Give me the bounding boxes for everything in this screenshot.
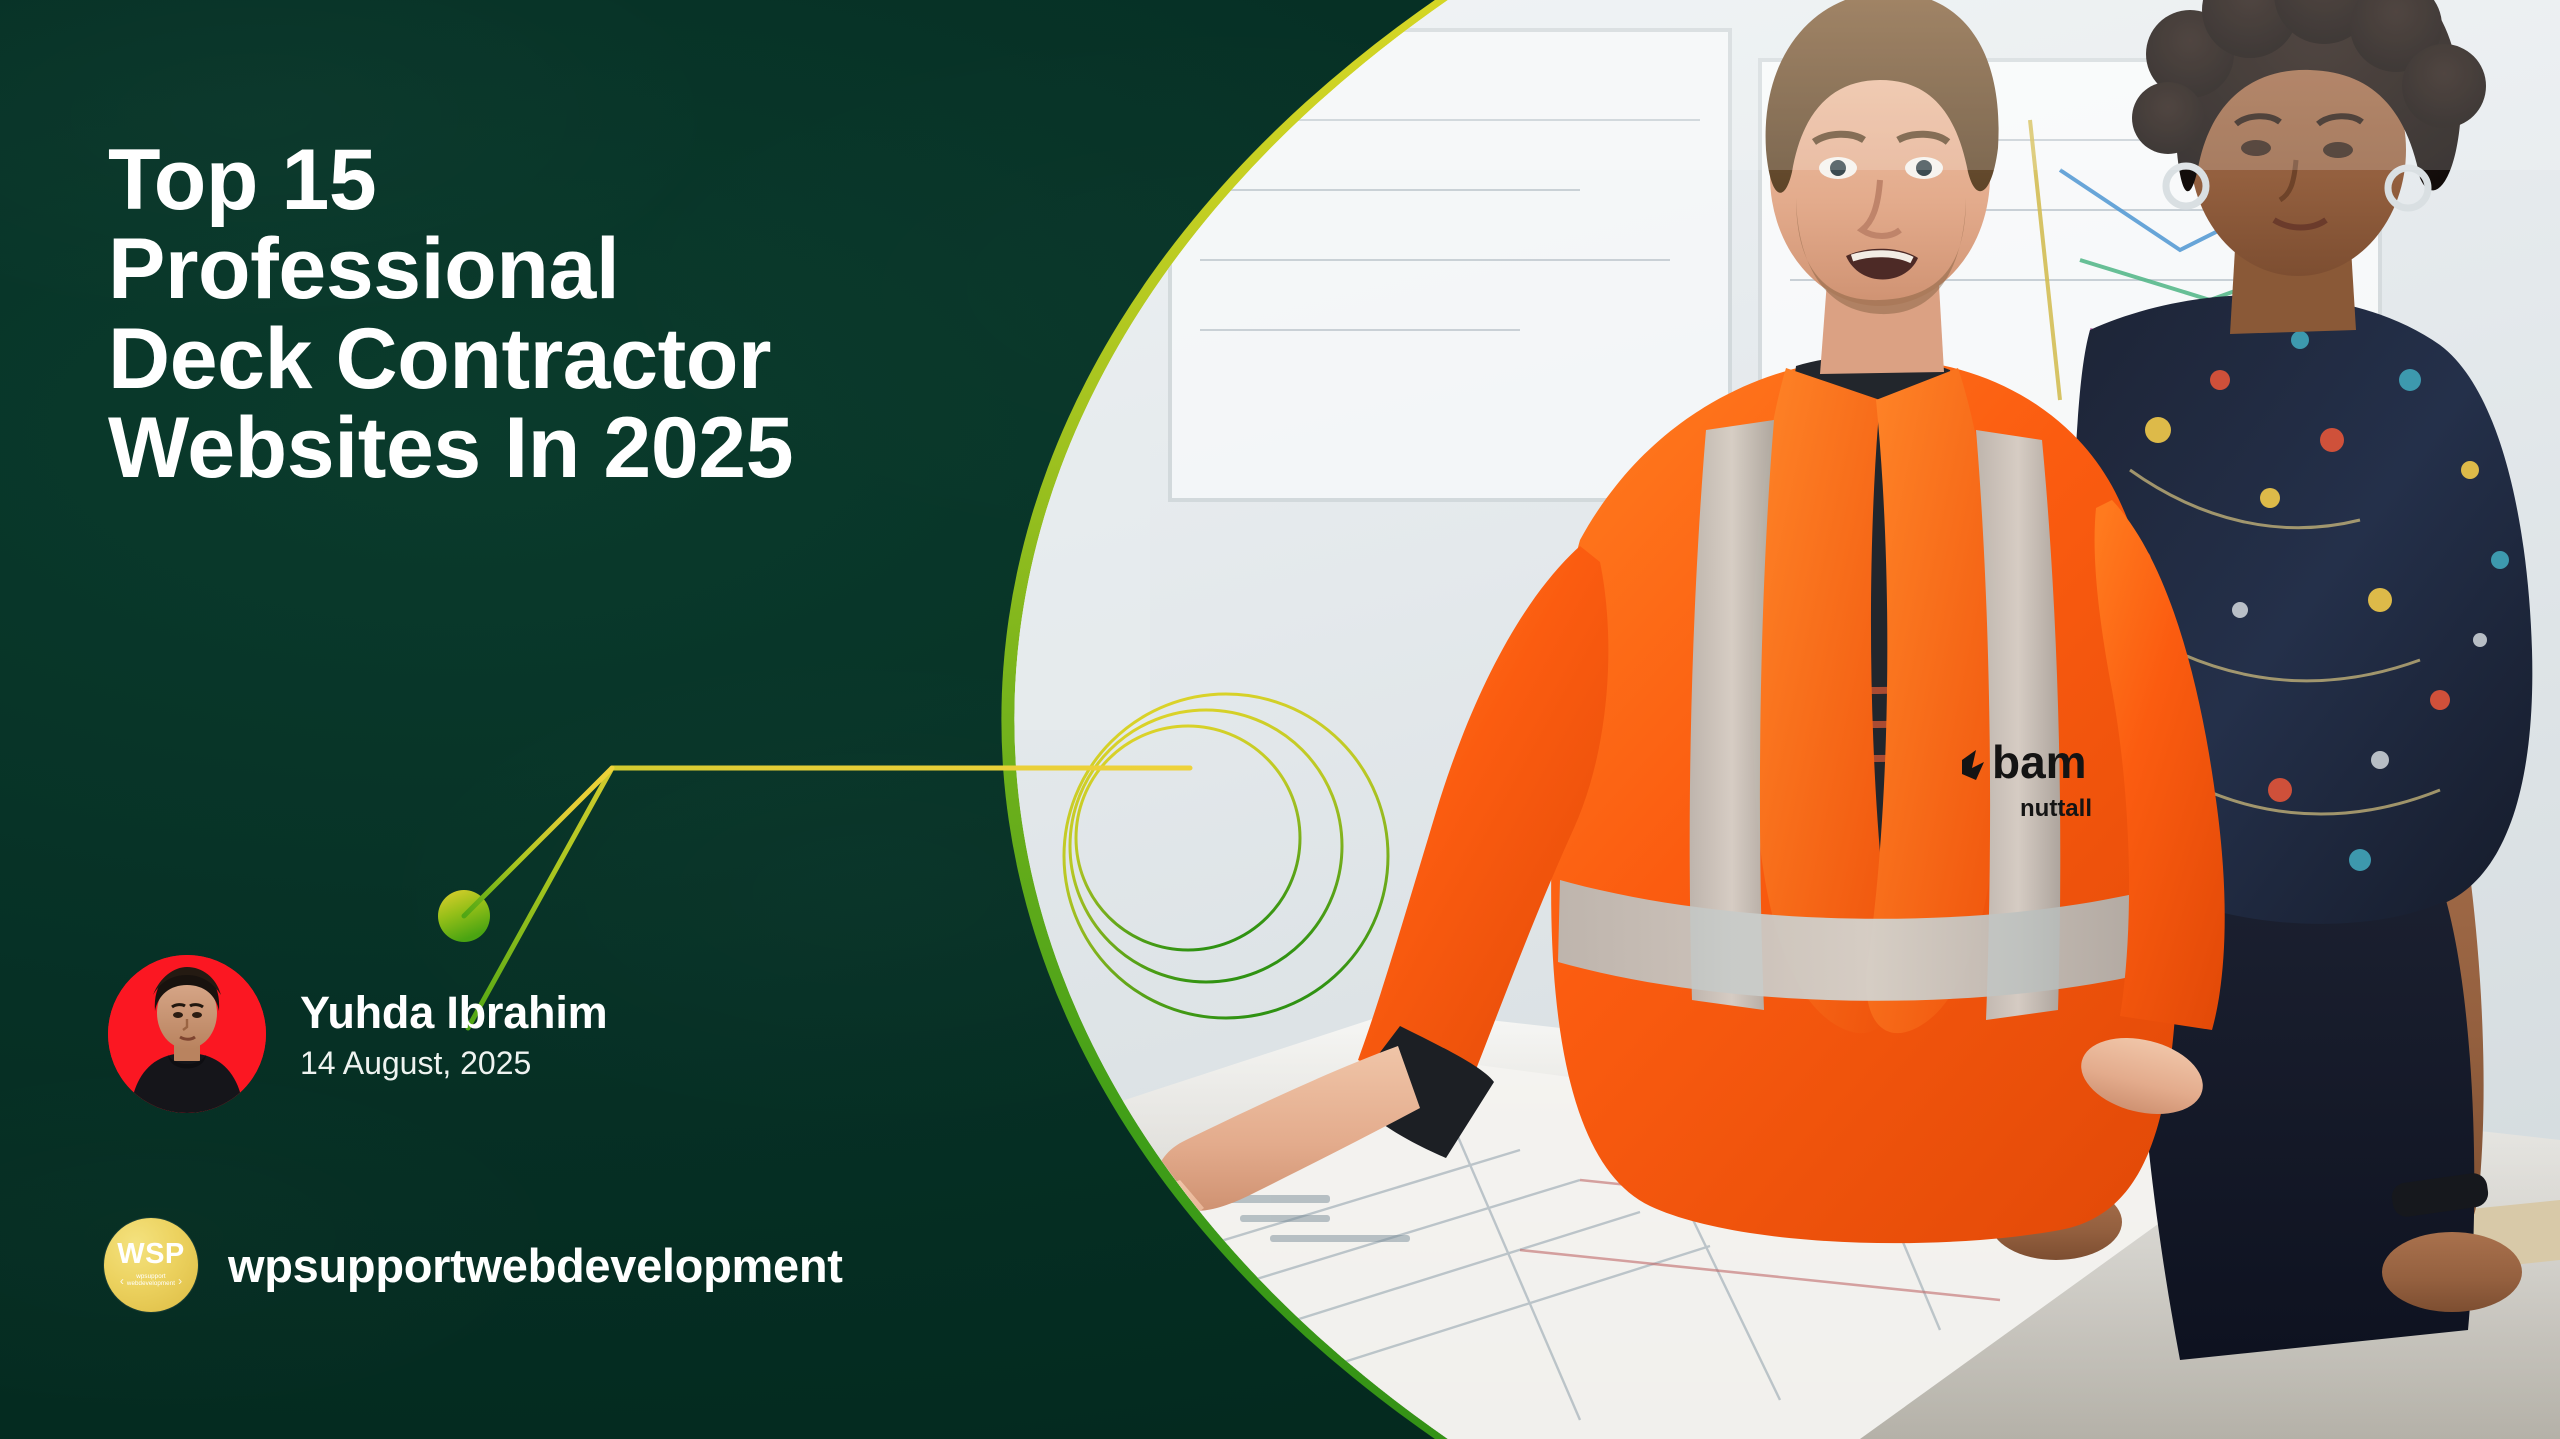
- author-meta: Yuhda Ibrahim 14 August, 2025: [300, 990, 607, 1079]
- badge-subtitle-text: wpsupport webdevelopment: [127, 1274, 175, 1288]
- avatar: [108, 955, 266, 1113]
- page-title: Top 15 Professional Deck Contractor Webs…: [108, 136, 1128, 494]
- headline-line-3: Deck Contractor: [108, 315, 1128, 404]
- photo-panel: bam nuttall: [880, 0, 2560, 1439]
- chevron-right-icon: ›: [178, 1275, 182, 1287]
- chevron-left-icon: ‹: [120, 1275, 124, 1287]
- svg-text:nuttall: nuttall: [2020, 795, 2092, 822]
- svg-text:bam: bam: [1992, 736, 2087, 788]
- author-block: Yuhda Ibrahim 14 August, 2025: [108, 955, 607, 1113]
- headline-line-4: Websites In 2025: [108, 404, 1128, 493]
- wsp-logo-badge: WSP ‹ wpsupport webdevelopment ›: [104, 1218, 198, 1312]
- photo-image: bam nuttall: [880, 0, 2560, 1439]
- headline-line-1: Top 15: [108, 136, 1128, 225]
- brand-name: wpsupportwebdevelopment: [228, 1242, 843, 1289]
- brand-block[interactable]: WSP ‹ wpsupport webdevelopment › wpsuppo…: [104, 1218, 843, 1312]
- headline-line-2: Professional: [108, 225, 1128, 314]
- badge-subtitle: ‹ wpsupport webdevelopment ›: [120, 1274, 182, 1288]
- construction-team-photo: bam nuttall: [880, 0, 2560, 1439]
- publish-date: 14 August, 2025: [300, 1047, 607, 1079]
- accent-dot: [438, 890, 490, 942]
- banner-canvas: bam nuttall: [0, 0, 2560, 1439]
- author-name: Yuhda Ibrahim: [300, 990, 607, 1035]
- badge-initials: WSP: [117, 1240, 185, 1269]
